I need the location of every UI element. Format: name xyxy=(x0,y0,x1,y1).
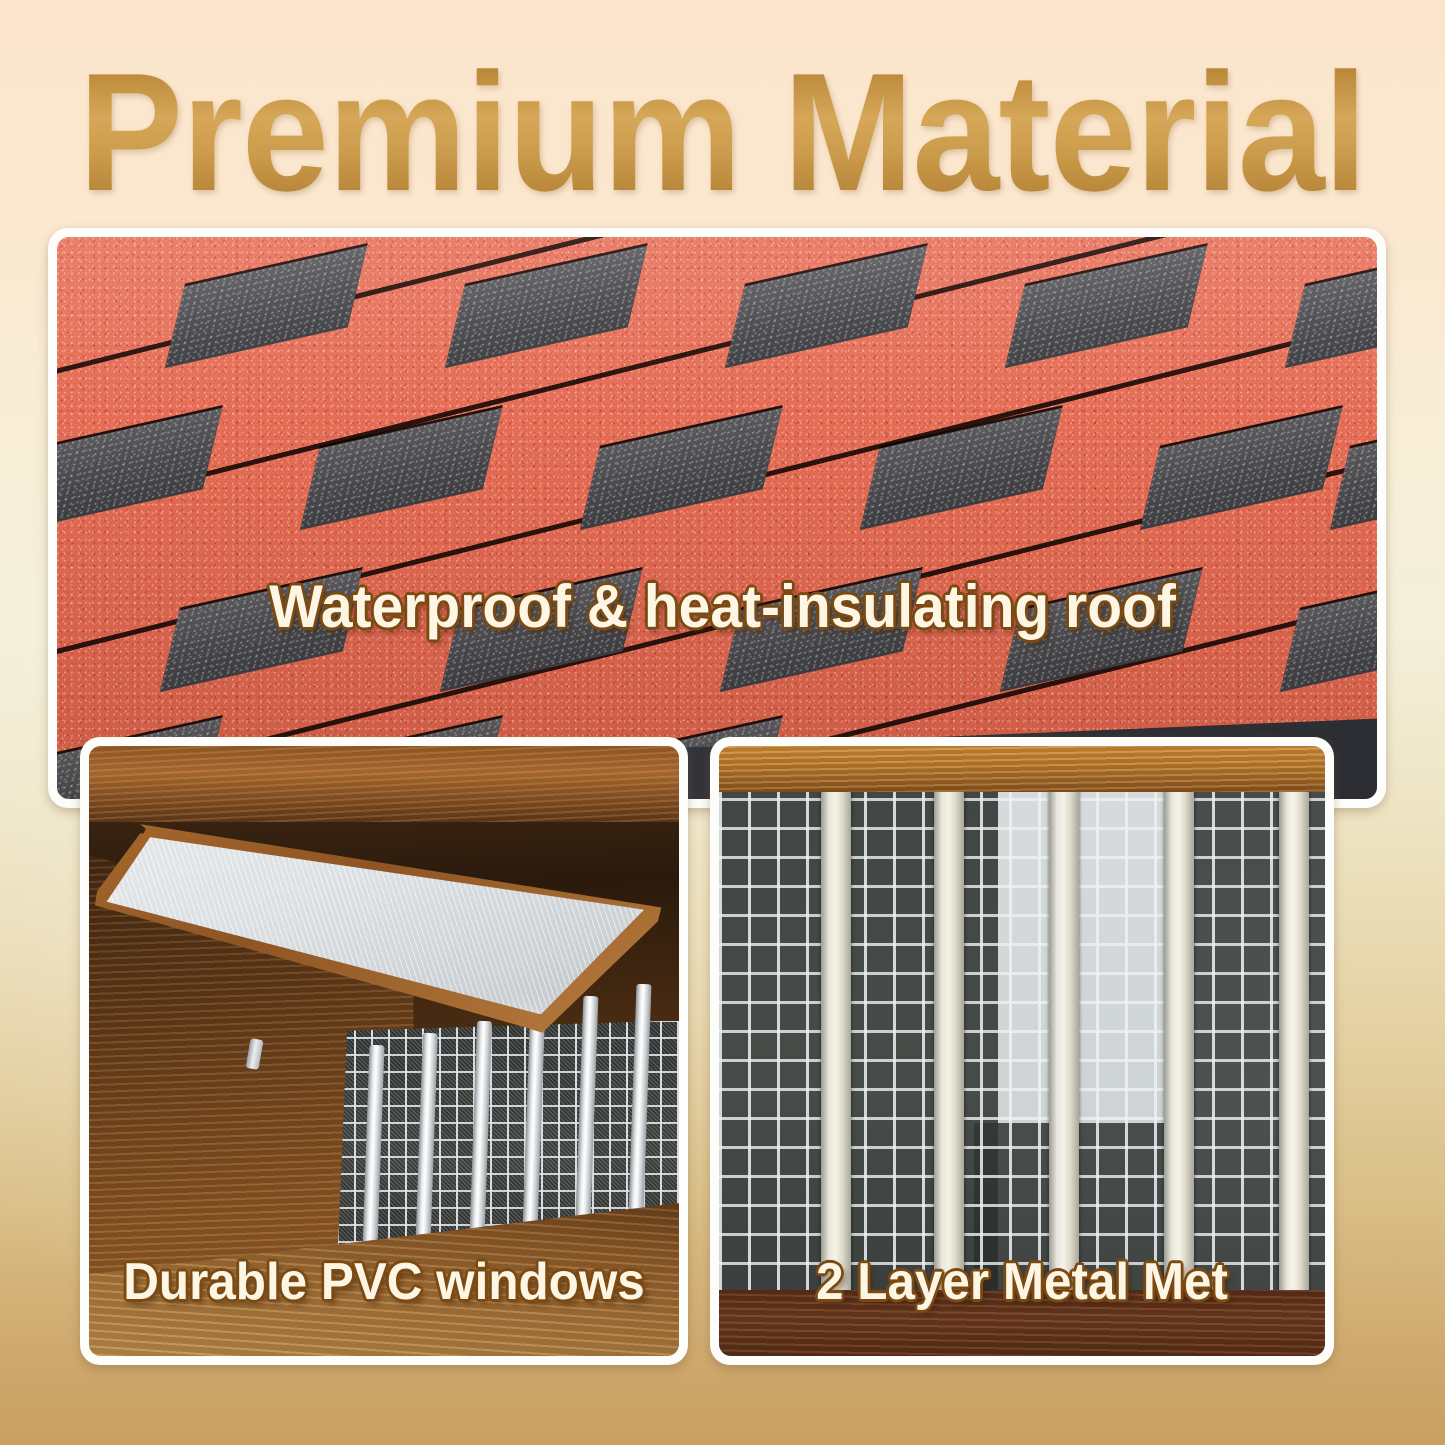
mesh-vertical-bar xyxy=(934,788,964,1298)
coop-roof-edge xyxy=(89,746,679,822)
roof-lighting-overlay xyxy=(57,237,1377,799)
premium-material-poster: Premium Material xyxy=(0,0,1445,1445)
caption-pvc-windows: Durable PVC windows xyxy=(95,1252,673,1312)
page-title: Premium Material xyxy=(51,46,1395,218)
roof-photo xyxy=(57,237,1377,799)
shingle-roof-image xyxy=(57,237,1377,799)
photo-card-roof xyxy=(48,228,1386,808)
mesh-vertical-bar xyxy=(821,788,851,1298)
mesh-top-wood-rail xyxy=(719,746,1325,792)
caption-metal-mesh: 2 Layer Metal Met xyxy=(726,1252,1319,1312)
mesh-vertical-bar xyxy=(1279,788,1309,1298)
caption-roof: Waterproof & heat-insulating roof xyxy=(36,572,1409,641)
mesh-vertical-bar xyxy=(1049,788,1079,1298)
mesh-vertical-bar xyxy=(1164,788,1194,1298)
mesh-wire-grid xyxy=(719,790,1325,1294)
